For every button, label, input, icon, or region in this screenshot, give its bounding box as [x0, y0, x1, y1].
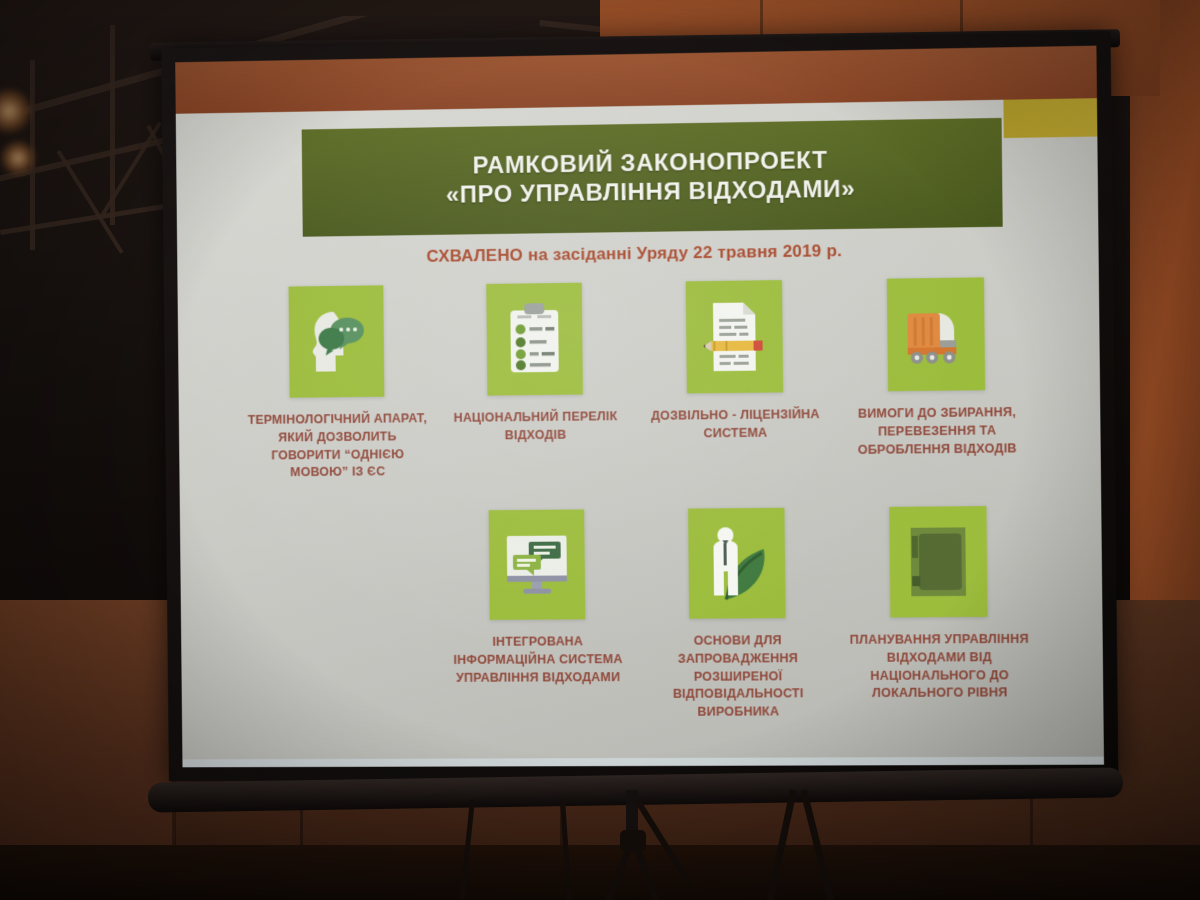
- feature-cell: ІНТЕГРОВАНА ІНФОРМАЦІЙНА СИСТЕМА УПРАВЛІ…: [437, 509, 638, 723]
- screen-canvas: РАМКОВИЙ ЗАКОНОПРОЕКТ «ПРО УПРАВЛІННЯ ВІ…: [175, 46, 1104, 768]
- truss-vertical: [110, 25, 115, 225]
- feature-caption: ДОЗВІЛЬНО - ЛІЦЕНЗІЙНА СИСТЕМА: [639, 406, 832, 444]
- slide-title-band: РАМКОВИЙ ЗАКОНОПРОЕКТ «ПРО УПРАВЛІННЯ ВІ…: [302, 118, 1003, 237]
- feature-cell: ОСНОВИ ДЛЯ ЗАПРОВАДЖЕННЯ РОЗШИРЕНОЇ ВІДП…: [636, 507, 839, 721]
- slide-gold-accent: [1003, 98, 1097, 138]
- slide-row-2: ІНТЕГРОВАНА ІНФОРМАЦІЙНА СИСТЕМА УПРАВЛІ…: [180, 504, 1104, 723]
- feature-caption: ВИМОГИ ДО ЗБИРАННЯ, ПЕРЕВЕЗЕННЯ ТА ОБРОБ…: [840, 404, 1035, 460]
- icon-tile: [289, 285, 385, 397]
- slide-bottom-strip: [182, 757, 1104, 768]
- feature-cell: ТЕРМІНОЛОГІЧНИЙ АПАРАТ, ЯКИЙ ДОЗВОЛИТЬ Г…: [237, 285, 436, 483]
- projector-screen: РАМКОВИЙ ЗАКОНОПРОЕКТ «ПРО УПРАВЛІННЯ ВІ…: [161, 31, 1118, 781]
- icon-tile: [688, 508, 785, 619]
- garbage-truck-icon: [899, 303, 973, 366]
- presentation-slide: РАМКОВИЙ ЗАКОНОПРОЕКТ «ПРО УПРАВЛІННЯ ВІ…: [175, 46, 1104, 768]
- icon-tile: [887, 277, 985, 391]
- head-speech-bubble-icon: [303, 305, 369, 377]
- person-leaf-icon: [701, 523, 772, 604]
- feature-cell: ВИМОГИ ДО ЗБИРАННЯ, ПЕРЕВЕЗЕННЯ ТА ОБРОБ…: [834, 277, 1039, 478]
- document-pencil-icon: [701, 298, 768, 375]
- floor: [0, 845, 1200, 900]
- slide-row-1: ТЕРМІНОЛОГІЧНИЙ АПАРАТ, ЯКИЙ ДОЗВОЛИТЬ Г…: [178, 276, 1101, 483]
- feature-caption: ІНТЕГРОВАНА ІНФОРМАЦІЙНА СИСТЕМА УПРАВЛІ…: [442, 633, 634, 687]
- feature-cell: НАЦІОНАЛЬНИЙ ПЕРЕЛІК ВІДХОДІВ: [435, 282, 636, 481]
- feature-caption: НАЦІОНАЛЬНИЙ ПЕРЕЛІК ВІДХОДІВ: [440, 408, 631, 445]
- hall-lamp: [0, 140, 36, 176]
- feature-cell: ДОЗВІЛЬНО - ЛІЦЕНЗІЙНА СИСТЕМА: [634, 279, 837, 479]
- map-region-icon: [907, 523, 971, 600]
- monitor-chat-icon: [501, 532, 573, 598]
- icon-tile: [889, 506, 987, 617]
- icon-tile: [489, 509, 586, 619]
- clipboard-checklist-icon: [504, 302, 564, 377]
- slide-title-line-2: «ПРО УПРАВЛІННЯ ВІДХОДАМИ»: [446, 175, 856, 210]
- feature-caption: ПЛАНУВАННЯ УПРАВЛІННЯ ВІДХОДАМИ ВІД НАЦІ…: [842, 631, 1037, 703]
- icon-tile: [686, 280, 784, 393]
- feature-caption: ТЕРМІНОЛОГІЧНИЙ АПАРАТ, ЯКИЙ ДОЗВОЛИТЬ Г…: [243, 410, 433, 482]
- feature-cell: ПЛАНУВАННЯ УПРАВЛІННЯ ВІДХОДАМИ ВІД НАЦІ…: [837, 506, 1042, 721]
- feature-caption: ОСНОВИ ДЛЯ ЗАПРОВАДЖЕННЯ РОЗШИРЕНОЇ ВІДП…: [641, 632, 835, 722]
- conference-hall-scene: РАМКОВИЙ ЗАКОНОПРОЕКТ «ПРО УПРАВЛІННЯ ВІ…: [0, 0, 1200, 900]
- icon-tile: [486, 283, 583, 396]
